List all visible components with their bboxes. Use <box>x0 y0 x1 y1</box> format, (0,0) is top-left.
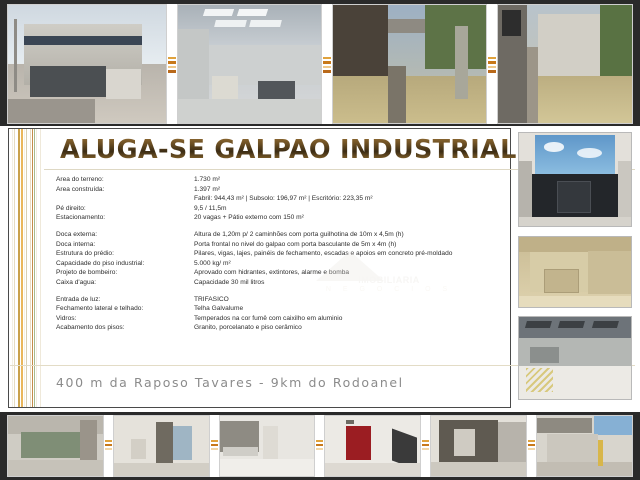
spec-label: Estacionamento: <box>56 215 194 222</box>
divider-accent-bars <box>488 57 496 83</box>
photo-interior-doorway[interactable] <box>430 415 527 477</box>
photo-fire-hydrant-stairs[interactable] <box>324 415 421 477</box>
photo-divider-2 <box>322 4 332 124</box>
photo-divider-b2 <box>210 415 219 477</box>
photo-divider-3 <box>487 4 497 124</box>
photo-interior-warehouse-skylights[interactable] <box>177 4 322 124</box>
photo-divider-b1 <box>104 415 113 477</box>
spec-label: Area construída: <box>56 187 194 194</box>
photo-divider-1 <box>167 4 177 124</box>
strip-edge-left <box>0 4 7 124</box>
divider-accent-bars <box>323 57 331 83</box>
strip-edge-right <box>633 415 640 477</box>
spec-label: Estrutura do prédio: <box>56 251 194 258</box>
spec-label: Entrada de luz: <box>56 297 194 304</box>
photo-exterior-loading-yard[interactable] <box>332 4 487 124</box>
photo-exterior-side-driveway[interactable] <box>497 4 633 124</box>
spec-label: Projeto de bombeiro: <box>56 270 194 277</box>
spec-label: Area do terreno: <box>56 177 194 184</box>
divider-accent-bars <box>168 57 176 83</box>
spec-label: Doca externa: <box>56 232 194 239</box>
spec-label: Vidros: <box>56 316 194 323</box>
photo-restroom-sinks[interactable] <box>219 415 316 477</box>
spec-label: Fechamento lateral e telhado: <box>56 306 194 313</box>
flyer-root: ALUGA-SE GALPAO INDUSTRIAL Area do terre… <box>0 0 640 480</box>
photo-divider-b4 <box>421 415 430 477</box>
photo-interior-empty-room[interactable] <box>113 415 210 477</box>
photo-interior-warehouse-wide[interactable] <box>518 316 632 400</box>
top-photo-strip <box>0 0 640 126</box>
photo-exterior-facade-street[interactable] <box>7 4 167 124</box>
bottom-photo-strip <box>0 412 640 480</box>
photo-divider-b5 <box>527 415 536 477</box>
spec-label: Capacidade do piso industrial: <box>56 261 194 268</box>
page-title: ALUGA-SE GALPAO INDUSTRIAL <box>60 135 517 165</box>
strip-edge-left <box>0 415 7 477</box>
photo-interior-office-room[interactable] <box>518 236 632 308</box>
strip-edge-right <box>633 4 640 124</box>
photo-entrance-gate[interactable] <box>518 132 632 227</box>
spec-label: Doca interna: <box>56 242 194 249</box>
spec-label: Pé direito: <box>56 206 194 213</box>
photo-exterior-ramp[interactable] <box>536 415 633 477</box>
photo-divider-b3 <box>315 415 324 477</box>
spec-label: Caixa d'agua: <box>56 280 194 287</box>
photo-covered-parking[interactable] <box>7 415 104 477</box>
spec-label: Acabamento dos pisos: <box>56 325 194 332</box>
right-photo-column <box>518 128 634 410</box>
